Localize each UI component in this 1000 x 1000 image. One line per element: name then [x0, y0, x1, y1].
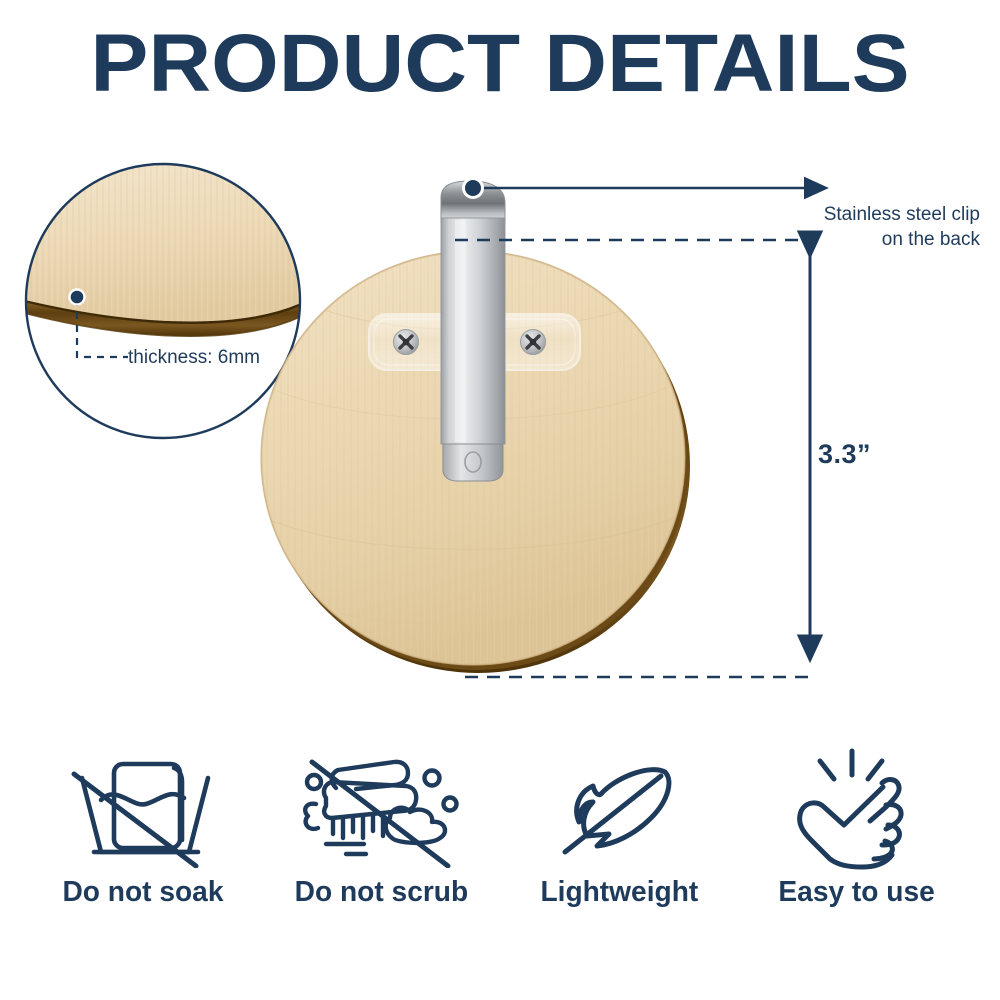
feature-label: Lightweight [540, 876, 698, 909]
feature-label: Do not scrub [294, 876, 467, 909]
feature-row: Do not soak [0, 748, 1000, 948]
clip-label-line2: on the back [640, 227, 980, 252]
screw-right [521, 330, 546, 355]
feature-do-not-scrub: Do not scrub [272, 748, 490, 948]
screw-left [394, 330, 419, 355]
feature-label: Do not soak [63, 876, 224, 909]
stainless-steel-clip [441, 181, 505, 481]
feature-easy-to-use: Easy to use [748, 748, 966, 948]
clip-label-line1: Stainless steel clip [824, 204, 980, 225]
feather-icon [539, 748, 699, 868]
feature-lightweight: Lightweight [510, 748, 728, 948]
thickness-annotation-label: thickness: 6mm [128, 345, 260, 370]
clip-callout-arrow [464, 179, 827, 198]
clip-bottom-tab [443, 444, 503, 481]
product-details-infographic: PRODUCT DETAILS [0, 0, 1000, 1000]
thickness-callout-dot [70, 290, 85, 305]
thickness-magnifier-callout [20, 160, 310, 450]
height-dimension-label: 3.3” [818, 442, 871, 467]
feature-do-not-soak: Do not soak [34, 748, 252, 948]
clip-strip [441, 218, 505, 444]
no-scrub-icon [286, 748, 476, 868]
clip-callout-dot [464, 179, 483, 198]
feature-label: Easy to use [779, 876, 935, 909]
no-soak-icon [56, 748, 231, 868]
tap-hand-icon [782, 748, 932, 868]
clip-annotation-label: Stainless steel clip on the back [640, 202, 1000, 252]
